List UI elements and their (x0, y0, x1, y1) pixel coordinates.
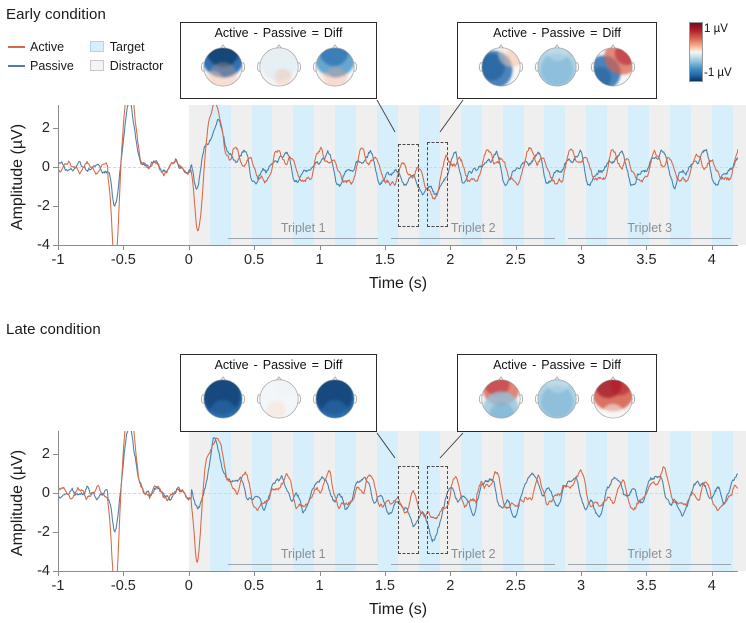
inset-op-equals: = (590, 358, 597, 372)
x-tick (450, 571, 451, 576)
inset-label-passive: Passive (263, 26, 307, 40)
x-tick (581, 245, 582, 250)
x-tick-label: 4 (708, 252, 716, 268)
triplet-bracket (568, 238, 731, 239)
y-tick (53, 245, 58, 246)
inset-header-late-right: Active - Passive = Diff (458, 355, 656, 372)
x-axis-line (58, 571, 738, 572)
inset-op-equals: = (590, 26, 597, 40)
x-tick (320, 571, 321, 576)
topography-window-box-2 (427, 466, 448, 554)
x-tick-label: 3.5 (636, 252, 656, 268)
inset-op-minus: - (254, 26, 258, 40)
y-axis-line (58, 105, 59, 245)
triplet-label: Triplet 1 (281, 221, 326, 235)
topography-head-right-positive-left-negative (589, 42, 637, 90)
topo-inset-early-left: Active - Passive = Diff (180, 22, 377, 99)
topography-head-global-strong-negative (199, 374, 247, 422)
y-axis-line (58, 431, 59, 571)
colorbar (689, 22, 703, 82)
x-tick (254, 245, 255, 250)
topo-row-early-left (181, 40, 376, 90)
box-swatch-target-icon (90, 41, 104, 52)
x-tick-label: 3.5 (636, 578, 656, 594)
topo-row-late-right (458, 372, 656, 422)
legend-early: Active Passive Target Distractor (8, 38, 163, 76)
triplet-label: Triplet 2 (451, 221, 496, 235)
panel-early: Early condition Active Passive Target (0, 0, 746, 310)
x-tick-label: 1.5 (375, 252, 395, 268)
topo-row-late-left (181, 372, 376, 422)
line-swatch-active-icon (8, 46, 25, 48)
y-tick-label: 2 (12, 120, 50, 136)
y-tick (53, 167, 58, 168)
colorbar-gradient (690, 23, 702, 81)
legend-label-distractor: Distractor (110, 59, 163, 73)
legend-item-passive: Passive (8, 57, 74, 74)
x-tick (123, 571, 124, 576)
page-title-late: Late condition (6, 321, 101, 338)
panel-late: Late condition Active - Passive = Diff A… (0, 313, 746, 623)
inset-op-minus: - (532, 26, 536, 40)
x-tick-label: 1 (315, 578, 323, 594)
x-tick (189, 245, 190, 250)
x-axis-line (58, 245, 738, 246)
triplet-label: Triplet 1 (281, 547, 326, 561)
y-tick (53, 128, 58, 129)
legend-item-target: Target (90, 38, 163, 55)
inset-label-active: Active (493, 26, 527, 40)
inset-label-diff: Diff (602, 26, 621, 40)
x-tick (450, 245, 451, 250)
x-tick-label: -1 (52, 578, 65, 594)
x-tick-label: 1.5 (375, 578, 395, 594)
topo-row-early-right (458, 40, 656, 90)
topography-head-near-zero (255, 374, 303, 422)
topography-window-box-1 (398, 466, 419, 554)
y-tick (53, 493, 58, 494)
topography-head-diffuse-negative (533, 374, 581, 422)
inset-op-minus: - (254, 358, 258, 372)
x-tick (646, 245, 647, 250)
legend-label-active: Active (30, 40, 64, 54)
colorbar-max-label: 1 µV (704, 23, 728, 35)
line-swatch-passive-icon (8, 65, 25, 67)
topography-head-anterior-positive-posterior-negative (477, 374, 525, 422)
inset-label-passive: Passive (541, 26, 585, 40)
topography-window-box-2 (427, 142, 448, 228)
topo-inset-early-right: Active - Passive = Diff (457, 22, 657, 99)
inset-label-passive: Passive (541, 358, 585, 372)
x-axis-title-early: Time (s) (58, 275, 738, 293)
legend-item-active: Active (8, 38, 74, 55)
x-tick (58, 245, 59, 250)
legend-item-distractor: Distractor (90, 57, 163, 74)
inset-label-diff: Diff (324, 358, 343, 372)
inset-label-diff: Diff (602, 358, 621, 372)
page-title-early: Early condition (6, 6, 106, 23)
x-tick-label: 2 (446, 252, 454, 268)
x-tick (58, 571, 59, 576)
triplet-label: Triplet 3 (627, 547, 672, 561)
x-tick (516, 571, 517, 576)
y-tick (53, 454, 58, 455)
x-tick-label: -0.5 (111, 578, 136, 594)
topo-inset-late-right: Active - Passive = Diff (457, 354, 657, 432)
topography-head-anterior-strong-positive (589, 374, 637, 422)
x-tick-label: 2 (446, 578, 454, 594)
triplet-bracket (391, 564, 554, 565)
x-tick-label: 2.5 (506, 578, 526, 594)
topo-inset-late-left: Active - Passive = Diff (180, 354, 377, 432)
inset-op-equals: = (312, 26, 319, 40)
box-swatch-distractor-icon (90, 60, 104, 71)
x-tick (712, 571, 713, 576)
y-tick-label: -4 (12, 563, 50, 579)
inset-header-late-left: Active - Passive = Diff (181, 355, 376, 372)
inset-header-early-left: Active - Passive = Diff (181, 23, 376, 40)
x-tick (385, 245, 386, 250)
inset-op-equals: = (312, 358, 319, 372)
triplet-bracket (228, 564, 378, 565)
inset-label-diff: Diff (324, 26, 343, 40)
inset-header-early-right: Active - Passive = Diff (458, 23, 656, 40)
x-tick-label: 0 (185, 252, 193, 268)
topography-head-global-strong-negative (311, 374, 359, 422)
topography-head-left-negative (477, 42, 525, 90)
y-tick-label: -2 (12, 198, 50, 214)
x-tick (712, 245, 713, 250)
x-tick-label: 0 (185, 578, 193, 594)
legend-label-passive: Passive (30, 59, 74, 73)
x-tick-label: 3 (577, 252, 585, 268)
y-tick-label: -2 (12, 524, 50, 540)
y-tick-label: 0 (12, 159, 50, 175)
x-tick-label: 4 (708, 578, 716, 594)
triplet-label: Triplet 3 (627, 221, 672, 235)
x-tick (581, 571, 582, 576)
x-tick-label: 1 (315, 252, 323, 268)
topography-head-diffuse-negative (533, 42, 581, 90)
y-tick-label: 2 (12, 446, 50, 462)
y-tick (53, 206, 58, 207)
x-tick-label: 2.5 (506, 252, 526, 268)
x-tick-label: 3 (577, 578, 585, 594)
x-axis-title-late: Time (s) (58, 601, 738, 619)
inset-label-active: Active (215, 358, 249, 372)
x-tick (646, 571, 647, 576)
triplet-bracket (228, 238, 378, 239)
x-tick (189, 571, 190, 576)
x-tick-label: -0.5 (111, 252, 136, 268)
x-tick (254, 571, 255, 576)
y-tick-label: 0 (12, 485, 50, 501)
x-tick (320, 245, 321, 250)
x-tick-label: 0.5 (244, 578, 264, 594)
x-tick (123, 245, 124, 250)
x-tick (385, 571, 386, 576)
legend-label-target: Target (110, 40, 145, 54)
y-tick (53, 532, 58, 533)
x-tick-label: 0.5 (244, 252, 264, 268)
topography-head-frontal-moderate-negative (311, 42, 359, 90)
topography-head-frontal-strong-negative (199, 42, 247, 90)
x-tick-label: -1 (52, 252, 65, 268)
inset-label-active: Active (215, 26, 249, 40)
colorbar-min-label: -1 µV (704, 67, 732, 79)
inset-op-minus: - (532, 358, 536, 372)
topography-head-weak-neutral (255, 42, 303, 90)
y-tick (53, 571, 58, 572)
x-tick (516, 245, 517, 250)
triplet-bracket (568, 564, 731, 565)
triplet-bracket (391, 238, 554, 239)
inset-label-active: Active (493, 358, 527, 372)
triplet-label: Triplet 2 (451, 547, 496, 561)
inset-label-passive: Passive (263, 358, 307, 372)
topography-window-box-1 (398, 144, 419, 228)
y-tick-label: -4 (12, 237, 50, 253)
